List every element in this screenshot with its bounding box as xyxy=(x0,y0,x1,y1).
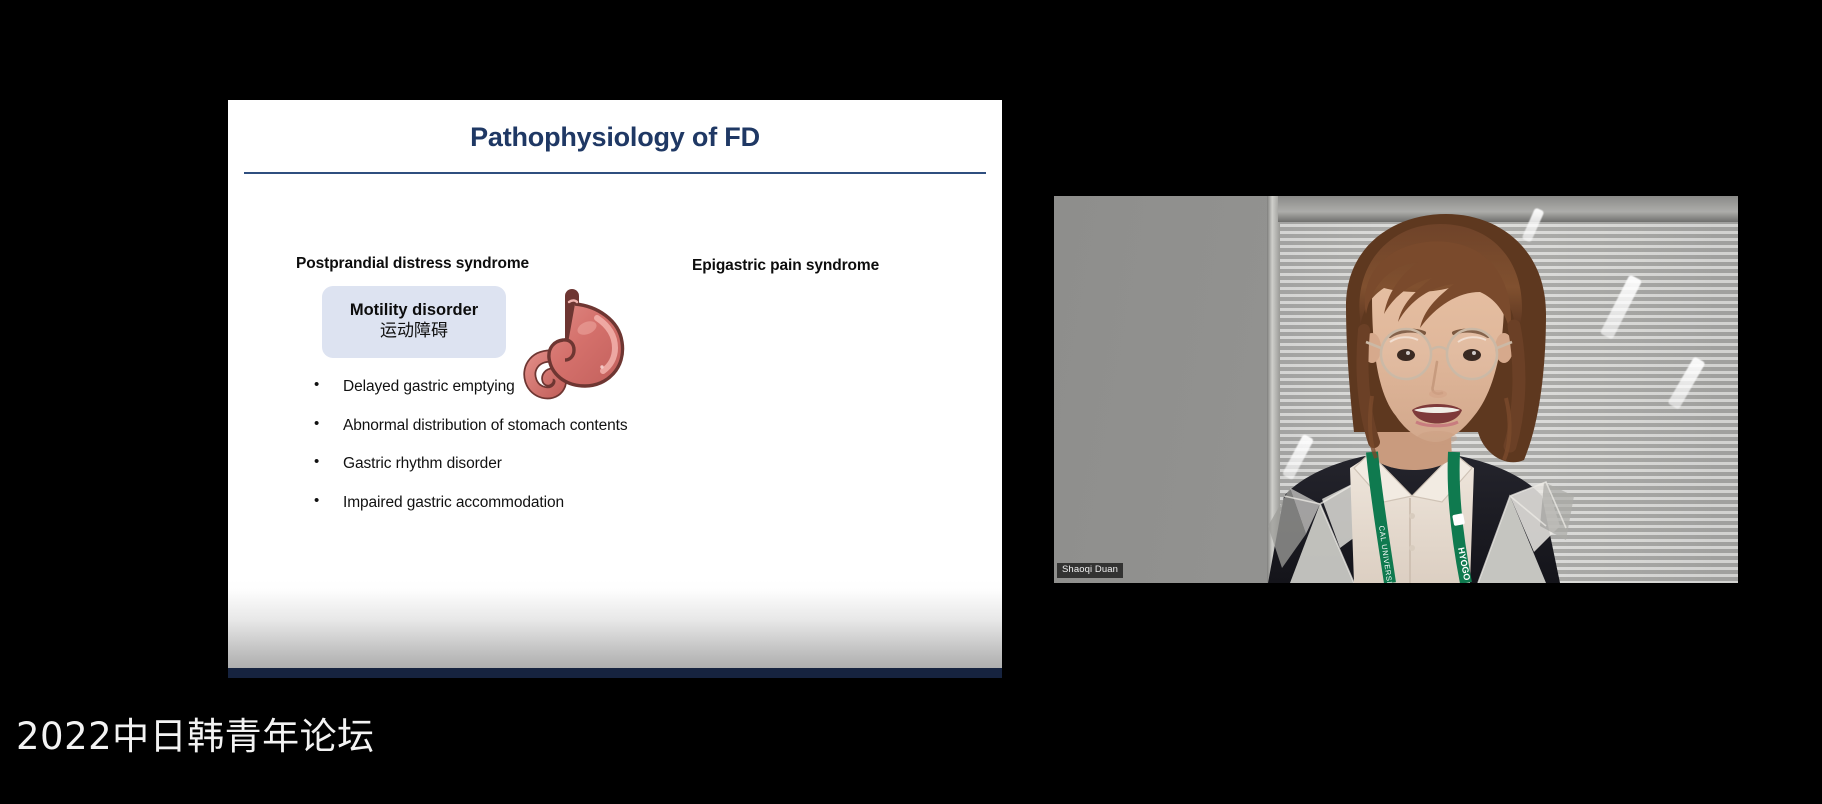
participant-name-badge: Shaoqi Duan xyxy=(1057,563,1123,578)
slide-title: Pathophysiology of FD xyxy=(228,122,1002,153)
footer-caption: 2022中日韩青年论坛 xyxy=(16,706,375,760)
motility-disorder-callout: Motility disorder 运动障碍 xyxy=(322,286,506,358)
slide-bottom-gradient xyxy=(228,580,1002,668)
postprandial-distress-syndrome-heading: Postprandial distress syndrome xyxy=(296,255,529,273)
list-item: Abnormal distribution of stomach content… xyxy=(314,417,734,435)
epigastric-pain-syndrome-heading: Epigastric pain syndrome xyxy=(692,257,879,275)
presentation-slide[interactable]: Pathophysiology of FD Postprandial distr… xyxy=(228,100,1002,678)
participant-person: CAL UNIVERSITY HYOGO xyxy=(1054,196,1738,583)
screen-root: Pathophysiology of FD Postprandial distr… xyxy=(0,0,1822,804)
slide-accent-bar xyxy=(228,668,1002,678)
list-item: Delayed gastric emptying xyxy=(314,378,734,396)
pds-bullet-list: Delayed gastric emptying Abnormal distri… xyxy=(314,378,734,532)
title-divider xyxy=(244,172,986,174)
motility-disorder-label-en: Motility disorder xyxy=(350,301,478,320)
motility-disorder-label-zh: 运动障碍 xyxy=(380,321,448,342)
list-item: Impaired gastric accommodation xyxy=(314,494,734,512)
participant-video-tile[interactable]: CAL UNIVERSITY HYOGO xyxy=(1054,196,1738,583)
list-item: Gastric rhythm disorder xyxy=(314,455,734,473)
